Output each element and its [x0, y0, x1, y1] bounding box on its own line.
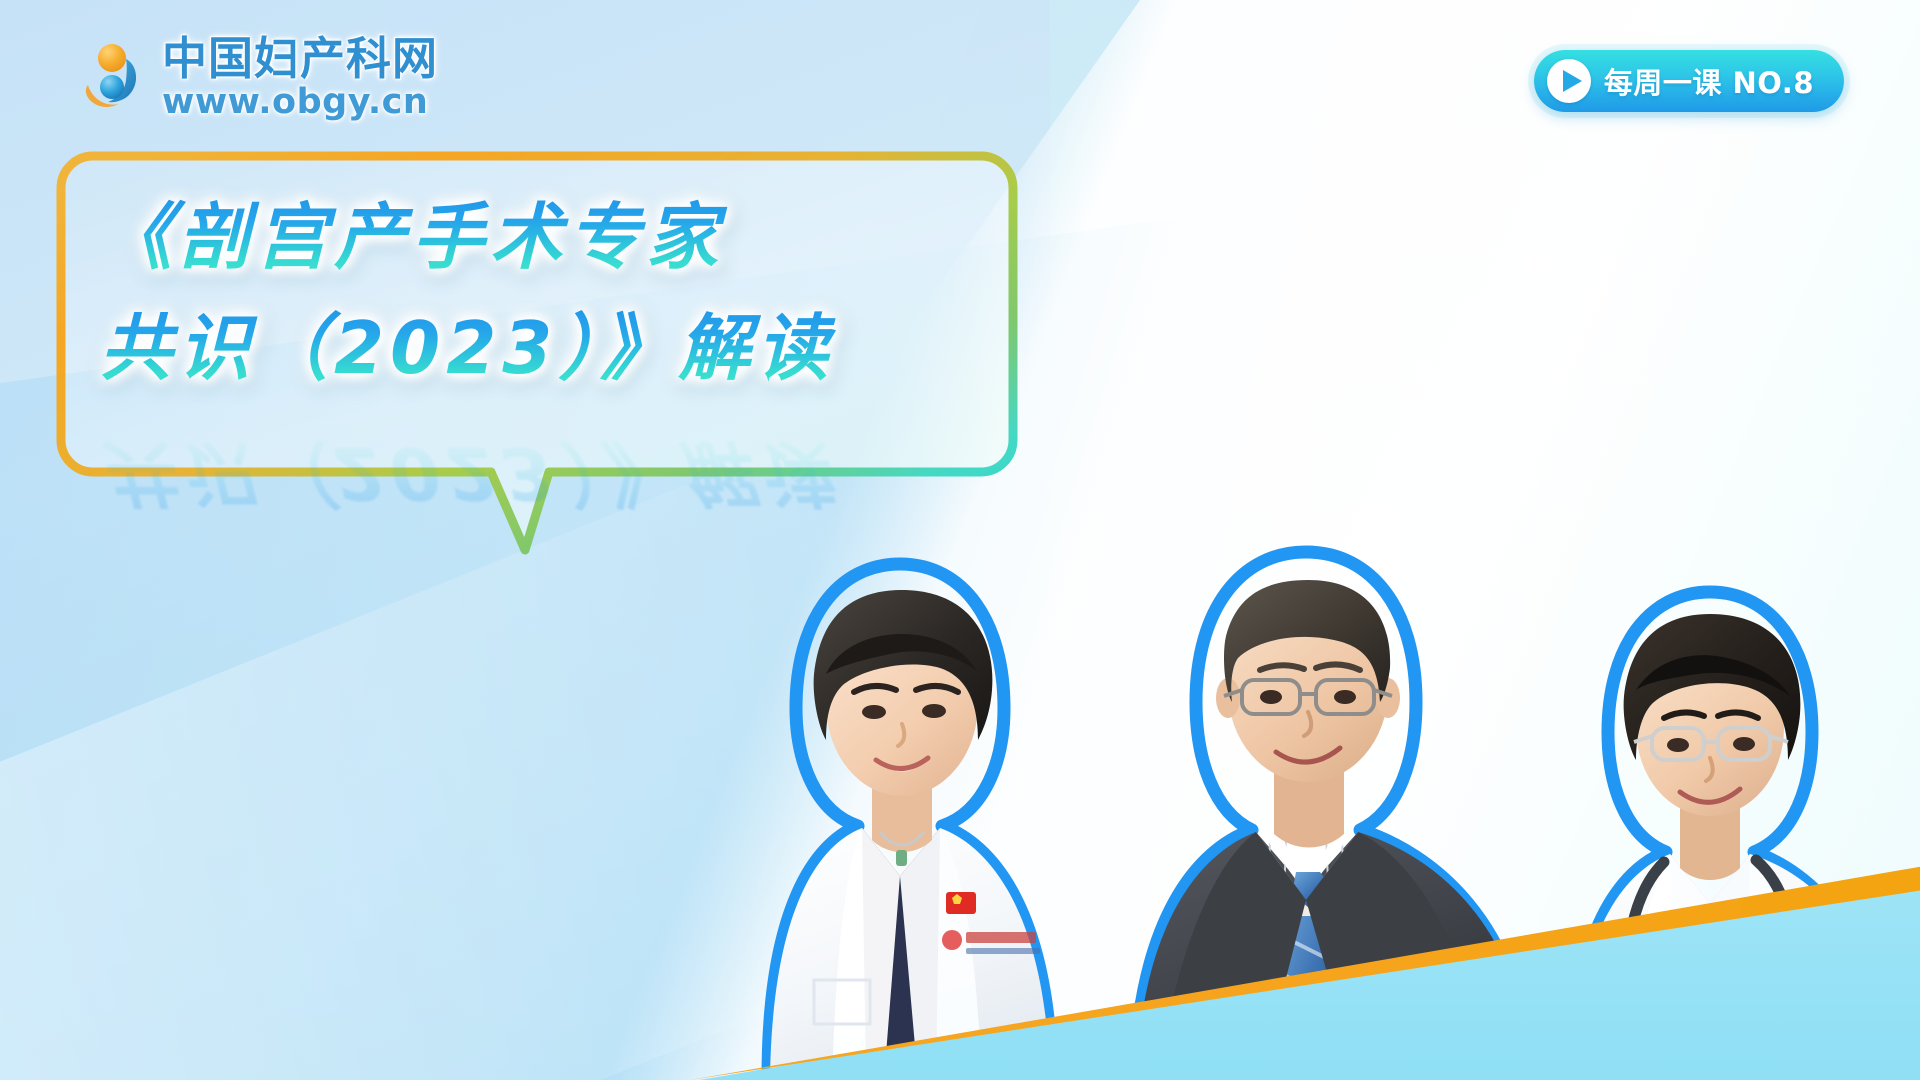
female-doctor-stethoscope [1560, 480, 1920, 1080]
page-title: 《剖宫产手术专家 共识（2023）》解读 [100, 178, 1000, 394]
title-line-1: 《剖宫产手术专家 [100, 178, 1000, 283]
site-name-cn: 中国妇产科网 [162, 36, 438, 81]
site-logo[interactable]: 中国妇产科网 www.obgy.cn [82, 36, 438, 120]
banner-canvas: 中国妇产科网 www.obgy.cn 每周一课 NO.8 [0, 0, 1920, 1080]
male-doctor-suit [1110, 420, 1580, 1080]
weekly-lesson-label: 每周一课 NO.8 [1604, 60, 1814, 102]
weekly-lesson-badge[interactable]: 每周一课 NO.8 [1534, 50, 1844, 112]
play-icon [1547, 59, 1591, 103]
female-doctor-white-coat [600, 440, 1120, 1080]
title-line-2: 共识（2023）》解读 [100, 289, 1000, 394]
site-url: www.obgy.cn [162, 85, 438, 120]
obgy-person-logo-icon [82, 41, 148, 115]
logo-text: 中国妇产科网 www.obgy.cn [162, 36, 438, 120]
